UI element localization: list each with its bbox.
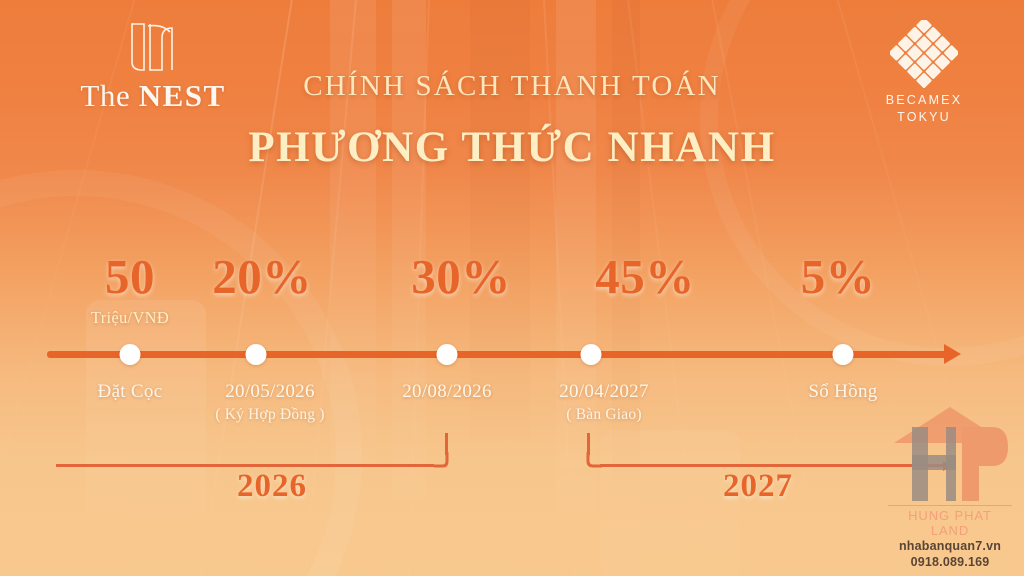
- payment-timeline: 50 Triệu/VNĐ 20% 30% 45% 5% Đặt Cọc 20/0…: [0, 0, 1024, 576]
- timeline-dot-4[interactable]: [833, 344, 854, 365]
- timeline-dot-1[interactable]: [246, 344, 267, 365]
- watermark-phone: 0918.089.169: [888, 554, 1012, 570]
- amount-unit-0: Triệu/VNĐ: [10, 308, 250, 328]
- bracket-corner-2026: [431, 450, 449, 468]
- milestone-date-3: 20/04/2027: [484, 381, 724, 403]
- watermark-brand: HUNG PHAT LAND: [888, 505, 1012, 538]
- timeline-dot-2[interactable]: [437, 344, 458, 365]
- timeline-dot-3[interactable]: [581, 344, 602, 365]
- timeline-axis: [47, 351, 950, 358]
- amount-value-4: 5%: [718, 252, 958, 301]
- watermark-hung-phat-land: HUNG PHAT LAND nhabanquan7.vn 0918.089.1…: [888, 403, 1012, 571]
- milestone-note-3: ( Bàn Giao): [484, 406, 724, 424]
- year-label-2027: 2027: [723, 468, 793, 505]
- arrow-right-icon: [944, 344, 961, 364]
- timeline-milestone-3: 20/04/2027 ( Bàn Giao): [484, 381, 724, 424]
- payment-policy-infographic: The NEST: [0, 0, 1024, 576]
- watermark-site: nhabanquan7.vn: [888, 538, 1012, 554]
- year-label-2026: 2026: [237, 468, 307, 505]
- milestone-date-4: Sổ Hồng: [723, 381, 963, 403]
- timeline-dot-0[interactable]: [120, 344, 141, 365]
- milestone-note-1: ( Ký Hợp Đồng ): [150, 406, 390, 424]
- house-hp-logo-icon: [888, 403, 1012, 507]
- timeline-amount-4: 5%: [718, 252, 958, 301]
